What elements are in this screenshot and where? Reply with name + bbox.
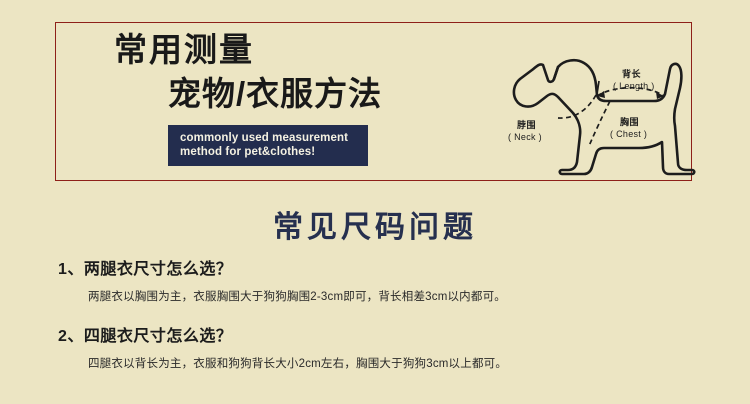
faq-answer: 两腿衣以胸围为主，衣服胸围大于狗狗胸围2-3cm即可，背长相差3cm以内都可。 bbox=[0, 289, 750, 306]
faq-spacer bbox=[0, 316, 750, 325]
banner-title-line1: 常用测量 bbox=[106, 31, 446, 69]
faq-item: 1、两腿衣尺寸怎么选？ 两腿衣以胸围为主，衣服胸围大于狗狗胸围2-3cm即可，背… bbox=[0, 258, 750, 306]
page-root: 常用测量 宠物/衣服方法 commonly used measurement m… bbox=[0, 0, 750, 404]
banner-frame: 常用测量 宠物/衣服方法 commonly used measurement m… bbox=[55, 22, 692, 181]
label-length-en: ( Length ) bbox=[613, 81, 655, 91]
label-neck-cn: 脖围 bbox=[517, 119, 536, 130]
badge-line-1: commonly used measurement bbox=[180, 131, 360, 145]
length-tick bbox=[597, 81, 599, 94]
faq-list: 1、两腿衣尺寸怎么选？ 两腿衣以胸围为主，衣服胸围大于狗狗胸围2-3cm即可，背… bbox=[0, 258, 750, 384]
badge-line-2: method for pet&clothes! bbox=[180, 145, 360, 159]
faq-question: 2、四腿衣尺寸怎么选？ bbox=[0, 325, 750, 349]
dog-measurement-diagram: 背长 ( Length ) 脖围 ( Neck ) 胸围 ( Chest ) bbox=[496, 47, 736, 202]
section-heading: 常见尺码问题 bbox=[0, 202, 750, 246]
label-chest-en: ( Chest ) bbox=[610, 129, 647, 139]
chest-measure-line bbox=[589, 101, 610, 146]
label-length-cn: 背长 bbox=[622, 68, 642, 79]
neck-measure-line bbox=[558, 95, 596, 118]
faq-item: 2、四腿衣尺寸怎么选？ 四腿衣以背长为主，衣服和狗狗背长大小2cm左右，胸围大于… bbox=[0, 325, 750, 373]
banner-title-line2: 宠物/衣服方法 bbox=[106, 75, 446, 113]
label-chest-cn: 胸围 bbox=[620, 116, 639, 127]
banner-text-block: 常用测量 宠物/衣服方法 commonly used measurement m… bbox=[106, 31, 446, 181]
dog-silhouette-icon bbox=[514, 60, 694, 174]
faq-question: 1、两腿衣尺寸怎么选？ bbox=[0, 258, 750, 282]
english-subtitle-badge: commonly used measurement method for pet… bbox=[168, 125, 368, 166]
label-neck-en: ( Neck ) bbox=[508, 132, 542, 142]
faq-answer: 四腿衣以背长为主，衣服和狗狗背长大小2cm左右，胸围大于狗狗3cm以上都可。 bbox=[0, 356, 750, 373]
